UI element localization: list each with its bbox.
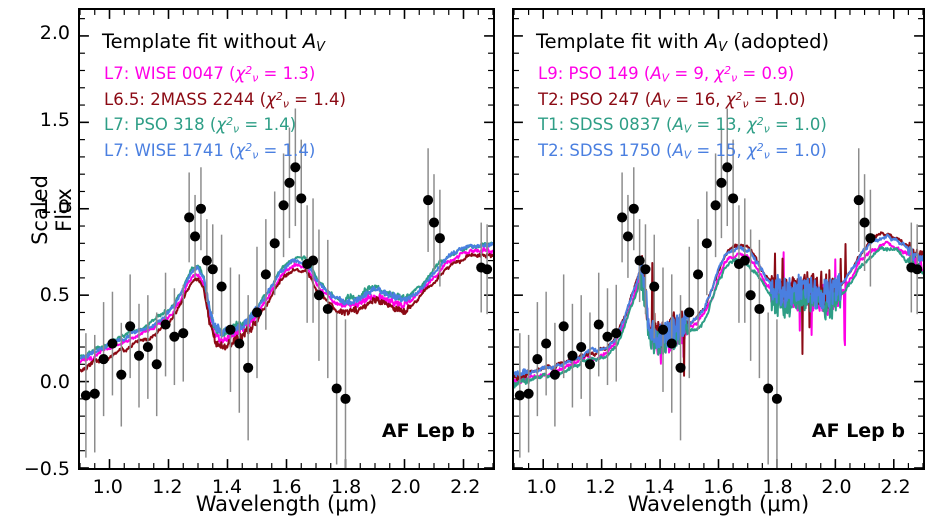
legend-entry: T2: PSO 247 (AV = 16, χ2ν = 1.0): [538, 90, 806, 110]
legend-entry: L9: PSO 149 (AV = 9, χ2ν = 0.9): [538, 64, 794, 84]
panel-left-object-label: AF Lep b: [382, 420, 475, 442]
x-axis-label-left: Wavelength (μm): [78, 492, 495, 516]
legend-entry: L7: PSO 318 (χ2ν = 1.4): [104, 115, 296, 135]
legend-entry: L7: WISE 1741 (χ2ν = 1.4): [104, 141, 315, 161]
y-tick-label: 0.5: [18, 284, 70, 306]
y-tick-label: 0.0: [18, 371, 70, 393]
legend-entry: L6.5: 2MASS 2244 (χ2ν = 1.4): [104, 90, 346, 110]
panel-left-title: Template fit without AV: [102, 30, 325, 55]
x-axis-label-right: Wavelength (μm): [512, 492, 925, 516]
figure-root: Scaled Flux −0.50.00.51.01.52.0 Template…: [0, 0, 935, 526]
legend-entry: T2: SDSS 1750 (AV = 15, χ2ν = 1.0): [538, 141, 827, 161]
y-tick-label: −0.5: [18, 458, 70, 480]
panel-without-av: Template fit without AV L7: WISE 0047 (χ…: [78, 8, 495, 470]
panel-right-title: Template fit with AV (adopted): [536, 30, 829, 55]
legend-entry: T1: SDSS 0837 (AV = 13, χ2ν = 1.0): [538, 115, 827, 135]
panel-right-object-label: AF Lep b: [812, 420, 905, 442]
panel-with-av: Template fit with AV (adopted) L9: PSO 1…: [512, 8, 925, 470]
y-tick-label: 2.0: [18, 22, 70, 44]
legend-entry: L7: WISE 0047 (χ2ν = 1.3): [104, 64, 315, 84]
y-tick-label: 1.0: [18, 196, 70, 218]
y-tick-label: 1.5: [18, 109, 70, 131]
